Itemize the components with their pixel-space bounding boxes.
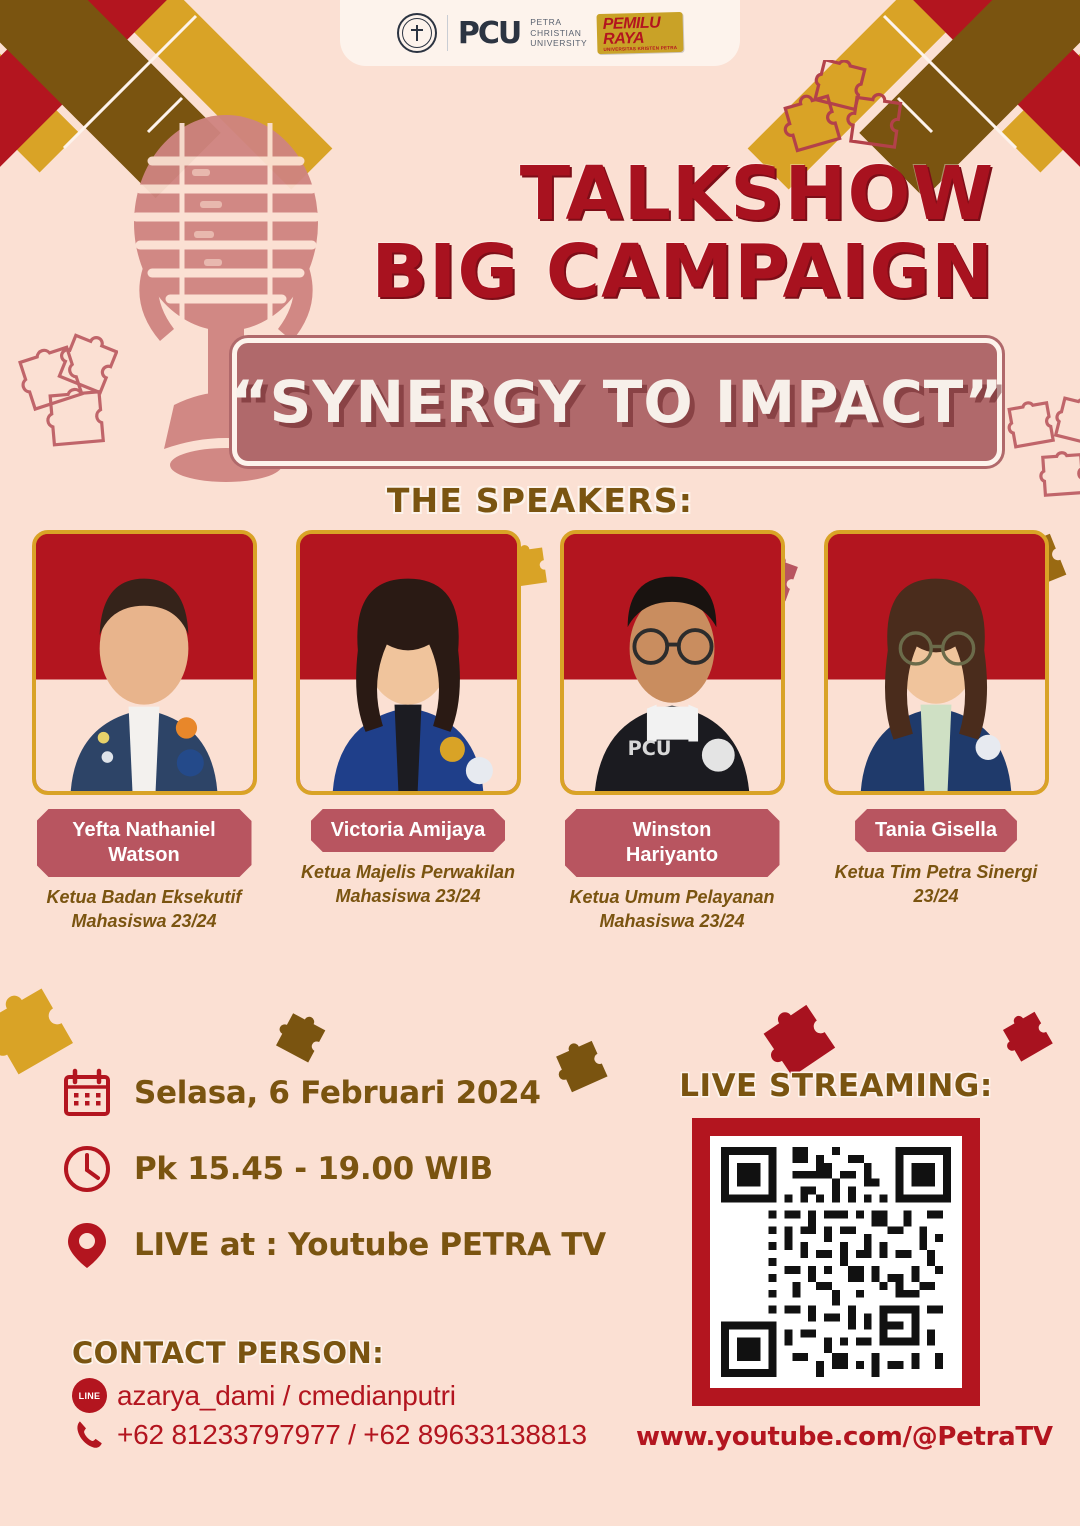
- header-logo-bar: PCU PETRA CHRISTIAN UNIVERSITY PEMILU RA…: [340, 0, 740, 66]
- detail-row-location: LIVE at : Youtube PETRA TV: [62, 1220, 622, 1270]
- svg-text:PCU: PCU: [627, 737, 671, 760]
- event-details: Selasa, 6 Februari 2024 Pk 15.45 - 19.00…: [62, 1068, 622, 1296]
- speaker-photo: PCU: [560, 530, 785, 795]
- subtitle-banner: “SYNERGY TO IMPACT”: [232, 338, 1002, 466]
- detail-text-time: Pk 15.45 - 19.00 WIB: [134, 1151, 493, 1187]
- pcu-name-line1: PETRA: [530, 17, 587, 28]
- contact-row-phone[interactable]: +62 81233797977 / +62 89633138813: [72, 1417, 587, 1452]
- contact-line-ids: azarya_dami / cmedianputri: [117, 1380, 456, 1412]
- poster-title: TALKSHOW BIG CAMPAIGN: [0, 155, 1080, 312]
- contact-section: CONTACT PERSON: LINE azarya_dami / cmedi…: [72, 1336, 587, 1452]
- speaker-card: PCU Winston Hariyanto Ketua Umum Pelayan…: [548, 530, 796, 934]
- puzzle-piece-icon: [1000, 1008, 1058, 1066]
- puzzle-pieces-outline-icon: [8, 330, 118, 460]
- pemilu-line3: UNIVERSITAS KRISTEN PETRA: [604, 45, 678, 52]
- pemilu-line2: RAYA: [603, 30, 677, 47]
- logo-divider: [447, 15, 448, 51]
- speaker-card: Tania Gisella Ketua Tim Petra Sinergi 23…: [812, 530, 1060, 934]
- speaker-portrait-icon: PCU: [564, 534, 781, 791]
- speaker-role: Ketua Badan Eksekutif Mahasiswa 23/24: [24, 886, 264, 934]
- phone-icon: [72, 1417, 107, 1452]
- speaker-role: Ketua Umum Pelayanan Mahasiswa 23/24: [552, 886, 792, 934]
- pcu-name-line2: CHRISTIAN: [530, 28, 587, 39]
- calendar-icon: [62, 1068, 112, 1118]
- speaker-photo: [824, 530, 1049, 795]
- speaker-name: Victoria Amijaya: [311, 809, 506, 852]
- live-streaming-section: LIVE STREAMING:: [636, 1068, 1036, 1452]
- pemilu-raya-logo: PEMILU RAYA UNIVERSITAS KRISTEN PETRA: [597, 12, 684, 55]
- university-seal-icon: [397, 13, 437, 53]
- speaker-role: Ketua Tim Petra Sinergi 23/24: [816, 861, 1056, 909]
- qr-code-frame: [692, 1118, 980, 1406]
- contact-phones: +62 81233797977 / +62 89633138813: [117, 1419, 587, 1451]
- poster-canvas: PCU PETRA CHRISTIAN UNIVERSITY PEMILU RA…: [0, 0, 1080, 1526]
- puzzle-piece-icon: [272, 1010, 330, 1068]
- live-streaming-heading: LIVE STREAMING:: [636, 1068, 1036, 1104]
- pcu-logo-mark: PCU: [458, 16, 520, 51]
- speaker-portrait-icon: [828, 534, 1045, 791]
- speaker-photo: [32, 530, 257, 795]
- speaker-name: Tania Gisella: [855, 809, 1017, 852]
- speaker-name: Winston Hariyanto: [565, 809, 780, 877]
- location-pin-icon: [62, 1220, 112, 1270]
- speakers-list: Yefta Nathaniel Watson Ketua Badan Eksek…: [0, 530, 1080, 934]
- detail-text-date: Selasa, 6 Februari 2024: [134, 1075, 541, 1111]
- speaker-portrait-icon: [36, 534, 253, 791]
- line-badge-label: LINE: [79, 1391, 101, 1401]
- subtitle-text: “SYNERGY TO IMPACT”: [231, 368, 1004, 436]
- live-stream-url[interactable]: www.youtube.com/@PetraTV: [636, 1422, 1036, 1452]
- speaker-role: Ketua Majelis Perwakilan Mahasiswa 23/24: [288, 861, 528, 909]
- title-line-2: BIG CAMPAIGN: [0, 233, 994, 311]
- speaker-photo: [296, 530, 521, 795]
- speakers-heading: THE SPEAKERS:: [0, 481, 1080, 520]
- pcu-name-line3: UNIVERSITY: [530, 38, 587, 49]
- line-app-icon: LINE: [72, 1378, 107, 1413]
- title-line-1: TALKSHOW: [0, 155, 994, 233]
- speaker-card: Victoria Amijaya Ketua Majelis Perwakila…: [284, 530, 532, 934]
- speaker-portrait-icon: [300, 534, 517, 791]
- speaker-card: Yefta Nathaniel Watson Ketua Badan Eksek…: [20, 530, 268, 934]
- puzzle-piece-icon: [0, 982, 82, 1082]
- contact-heading: CONTACT PERSON:: [72, 1336, 587, 1370]
- detail-text-location: LIVE at : Youtube PETRA TV: [134, 1227, 606, 1263]
- detail-row-date: Selasa, 6 Februari 2024: [62, 1068, 622, 1118]
- clock-icon: [62, 1144, 112, 1194]
- qr-code-icon: [721, 1147, 951, 1377]
- qr-code[interactable]: [710, 1136, 962, 1388]
- contact-row-line[interactable]: LINE azarya_dami / cmedianputri: [72, 1378, 587, 1413]
- detail-row-time: Pk 15.45 - 19.00 WIB: [62, 1144, 622, 1194]
- speaker-name: Yefta Nathaniel Watson: [37, 809, 252, 877]
- pcu-wordmark: PETRA CHRISTIAN UNIVERSITY: [530, 17, 587, 49]
